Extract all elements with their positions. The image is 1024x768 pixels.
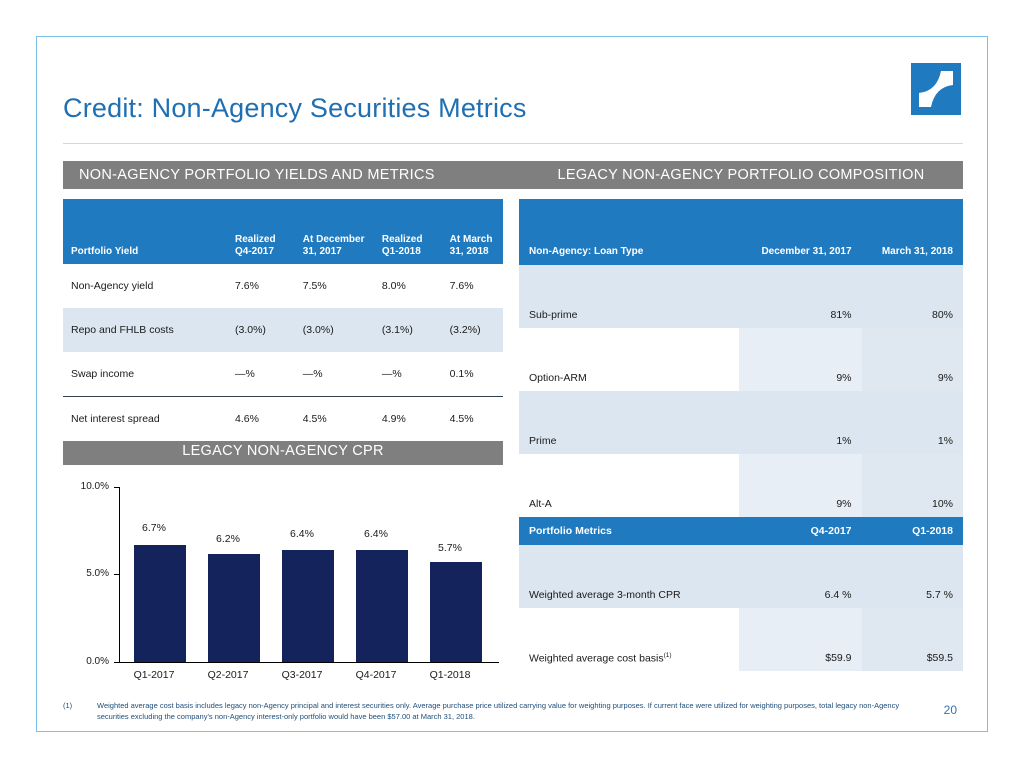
footnote: (1) Weighted average cost basis includes… (63, 701, 913, 723)
section-header-yields: NON-AGENCY PORTFOLIO YIELDS AND METRICS (63, 161, 519, 189)
cell-value: 0.1% (442, 352, 503, 397)
y-tick-mark (114, 487, 119, 488)
chart-bars (120, 487, 499, 662)
cell-value: 9% (739, 328, 862, 391)
slide-canvas: Credit: Non-Agency Securities Metrics NO… (36, 36, 988, 732)
col-december-31-2017: December 31, 2017 (739, 199, 862, 265)
cell-value: 80% (862, 265, 963, 328)
title-divider (63, 143, 963, 144)
col-portfolio-metrics: Portfolio Metrics (519, 517, 739, 545)
row-label: Repo and FHLB costs (63, 308, 227, 352)
y-tick-label: 5.0% (63, 568, 109, 579)
row-label: Swap income (63, 352, 227, 397)
row-label-text: Weighted average cost basis (529, 652, 664, 664)
cell-value: 10% (862, 454, 963, 517)
cell-value: 7.6% (442, 264, 503, 308)
cell-value: $59.5 (862, 608, 963, 671)
page-title: Credit: Non-Agency Securities Metrics (63, 93, 527, 124)
y-tick-label: 0.0% (63, 656, 109, 667)
bar-q2-2017 (208, 554, 260, 662)
table-header-row: Portfolio Yield Realized Q4-2017 At Dece… (63, 199, 503, 264)
cell-value: 81% (739, 265, 862, 328)
x-tick-label: Q2-2017 (191, 669, 265, 681)
cpr-bar-chart: 10.0% 5.0% 0.0% 6.7% 6.2% 6.4% 6.4% 5.7%… (63, 477, 503, 702)
cell-value: —% (374, 352, 442, 397)
table-row: Net interest spread 4.6% 4.5% 4.9% 4.5% (63, 397, 503, 442)
metrics-header-row: Portfolio Metrics Q4-2017 Q1-2018 (519, 517, 963, 545)
cell-value: (3.1%) (374, 308, 442, 352)
cell-value: 4.5% (295, 397, 374, 442)
cell-value: —% (227, 352, 295, 397)
cell-value: —% (295, 352, 374, 397)
row-label: Alt-A (519, 454, 739, 517)
row-label: Non-Agency yield (63, 264, 227, 308)
bar-q1-2017 (134, 545, 186, 662)
cell-value: (3.0%) (227, 308, 295, 352)
cell-value: 8.0% (374, 264, 442, 308)
bar-label: 6.4% (346, 528, 406, 540)
cell-value: (3.2%) (442, 308, 503, 352)
cell-value: 4.9% (374, 397, 442, 442)
cell-value: 7.6% (227, 264, 295, 308)
cell-value: 6.4 % (739, 545, 862, 608)
table-row: Repo and FHLB costs (3.0%) (3.0%) (3.1%)… (63, 308, 503, 352)
page-number: 20 (944, 703, 957, 717)
bar-label: 5.7% (420, 542, 480, 554)
footnote-text: Weighted average cost basis includes leg… (97, 701, 913, 723)
y-tick-mark (114, 662, 119, 663)
company-logo (911, 63, 961, 115)
table-row: Prime 1% 1% (519, 391, 963, 454)
x-tick-label: Q1-2018 (413, 669, 487, 681)
row-label: Net interest spread (63, 397, 227, 442)
table-row: Weighted average cost basis(1) $59.9 $59… (519, 608, 963, 671)
table-row: Weighted average 3-month CPR 6.4 % 5.7 % (519, 545, 963, 608)
table-row: Swap income —% —% —% 0.1% (63, 352, 503, 397)
col-loan-type: Non-Agency: Loan Type (519, 199, 739, 265)
table-row: Sub-prime 81% 80% (519, 265, 963, 328)
bar-label: 6.4% (272, 528, 332, 540)
section-header-cpr: LEGACY NON-AGENCY CPR (63, 437, 503, 465)
cell-value: 1% (739, 391, 862, 454)
bar-q3-2017 (282, 550, 334, 662)
footnote-ref: (1) (664, 652, 672, 659)
yields-table: Portfolio Yield Realized Q4-2017 At Dece… (63, 199, 503, 441)
col-portfolio-yield: Portfolio Yield (63, 199, 227, 264)
x-tick-label: Q1-2017 (117, 669, 191, 681)
x-tick-label: Q3-2017 (265, 669, 339, 681)
y-tick-label: 10.0% (63, 481, 109, 492)
col-realized-q4-2017: Realized Q4-2017 (227, 199, 295, 264)
bar-q4-2017 (356, 550, 408, 662)
table-row: Non-Agency yield 7.6% 7.5% 8.0% 7.6% (63, 264, 503, 308)
col-at-march-31-2018: At March 31, 2018 (442, 199, 503, 264)
col-at-december-31-2017: At December 31, 2017 (295, 199, 374, 264)
row-label: Option-ARM (519, 328, 739, 391)
col-realized-q1-2018: Realized Q1-2018 (374, 199, 442, 264)
col-march-31-2018: March 31, 2018 (862, 199, 963, 265)
cell-value: $59.9 (739, 608, 862, 671)
cell-value: 4.5% (442, 397, 503, 442)
row-label: Sub-prime (519, 265, 739, 328)
cell-value: 9% (862, 328, 963, 391)
bar-label: 6.2% (198, 533, 258, 545)
table-row: Option-ARM 9% 9% (519, 328, 963, 391)
row-label: Weighted average cost basis(1) (519, 608, 739, 671)
row-label: Prime (519, 391, 739, 454)
bar-q1-2018 (430, 562, 482, 662)
cell-value: 1% (862, 391, 963, 454)
cell-value: 5.7 % (862, 545, 963, 608)
footnote-marker: (1) (63, 701, 72, 712)
row-label: Weighted average 3-month CPR (519, 545, 739, 608)
section-header-composition: LEGACY NON-AGENCY PORTFOLIO COMPOSITION (519, 161, 963, 189)
col-q4-2017: Q4-2017 (739, 517, 862, 545)
cell-value: 9% (739, 454, 862, 517)
cell-value: 4.6% (227, 397, 295, 442)
cell-value: (3.0%) (295, 308, 374, 352)
cell-value: 7.5% (295, 264, 374, 308)
composition-table: Non-Agency: Loan Type December 31, 2017 … (519, 199, 963, 671)
chart-x-axis (119, 662, 499, 663)
y-tick-mark (114, 574, 119, 575)
table-header-row: Non-Agency: Loan Type December 31, 2017 … (519, 199, 963, 265)
table-row: Alt-A 9% 10% (519, 454, 963, 517)
col-q1-2018: Q1-2018 (862, 517, 963, 545)
bar-label: 6.7% (124, 522, 184, 534)
x-tick-label: Q4-2017 (339, 669, 413, 681)
